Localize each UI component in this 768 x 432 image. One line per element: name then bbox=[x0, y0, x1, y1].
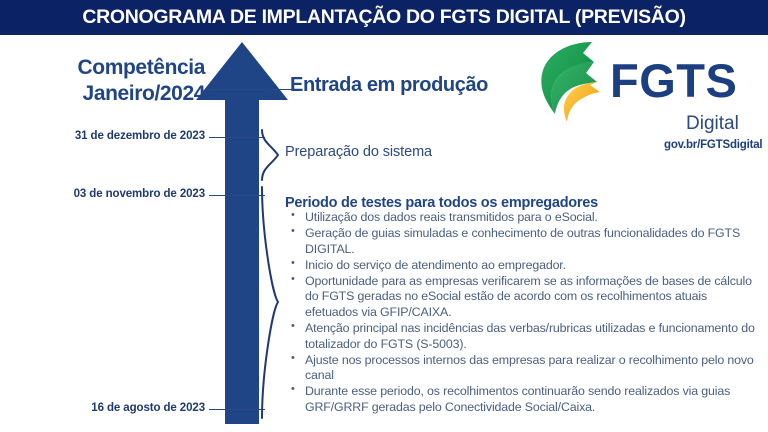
milestone-date-agosto: 16 de agosto de 2023 bbox=[0, 402, 205, 414]
page-title: CRONOGRAMA DE IMPLANTAÇÃO DO FGTS DIGITA… bbox=[82, 6, 685, 29]
milestone-date-novembro: 03 de novembro de 2023 bbox=[0, 188, 205, 200]
fgts-digital-logo: FGTS Digital gov.br/FGTSdigital bbox=[536, 40, 768, 162]
list-item: Oportunidade para as empresas verificare… bbox=[283, 274, 761, 321]
milestone-date-dezembro: 31 de dezembro de 2023 bbox=[0, 130, 205, 142]
logo-url: gov.br/FGTSdigital bbox=[664, 140, 762, 152]
fgts-swoosh-glyph bbox=[536, 40, 608, 124]
milestone-date-competencia-line1: Competência bbox=[20, 55, 205, 81]
slide-header-bar: CRONOGRAMA DE IMPLANTAÇÃO DO FGTS DIGITA… bbox=[0, 0, 768, 35]
fgts-swoosh-icon bbox=[536, 40, 608, 124]
list-item: Atenção principal nas incidências das ve… bbox=[283, 321, 761, 352]
milestone-title-periodo-testes: Periodo de testes para todos os empregad… bbox=[285, 195, 598, 211]
logo-subtitle: Digital bbox=[686, 114, 739, 133]
list-item: Durante esse periodo, os recolhimentos c… bbox=[283, 384, 761, 415]
milestone-title-preparacao-sistema: Preparação do sistema bbox=[285, 144, 432, 160]
milestone-title-entrada-producao: Entrada em produção bbox=[290, 74, 488, 97]
brace-periodo-testes bbox=[256, 185, 284, 425]
curly-brace-icon bbox=[256, 185, 284, 420]
slide-canvas: CRONOGRAMA DE IMPLANTAÇÃO DO FGTS DIGITA… bbox=[0, 0, 768, 432]
milestone-date-competencia: Competência Janeiro/2024 bbox=[20, 55, 205, 108]
brace-preparacao bbox=[258, 128, 284, 187]
leader-line-competencia bbox=[209, 89, 265, 90]
test-period-bullet-list: Utilização dos dados reais transmitidos … bbox=[283, 210, 761, 416]
list-item: Inicio do serviço de atendimento ao empr… bbox=[283, 258, 761, 274]
curly-brace-icon bbox=[258, 128, 284, 182]
milestone-date-competencia-line2: Janeiro/2024 bbox=[20, 81, 205, 107]
list-item: Ajuste nos processos internos das empres… bbox=[283, 353, 761, 384]
list-item: Utilização dos dados reais transmitidos … bbox=[283, 210, 761, 226]
list-item: Geração de guias simuladas e conheciment… bbox=[283, 226, 761, 257]
leader-line-dezembro bbox=[209, 137, 265, 138]
logo-wordmark: FGTS bbox=[610, 57, 737, 104]
